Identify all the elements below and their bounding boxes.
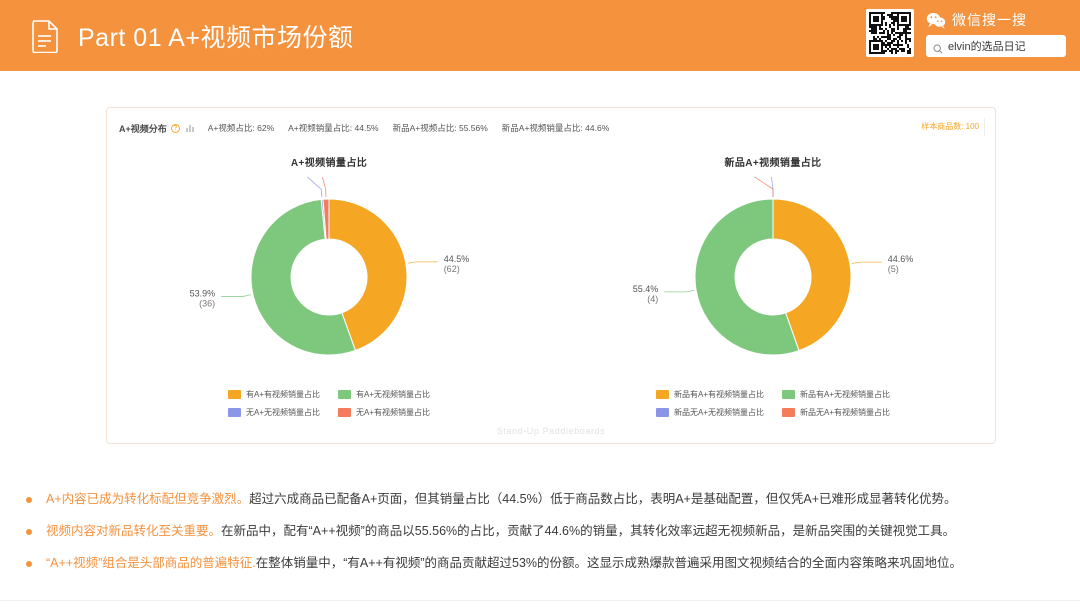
legend-item[interactable]: 有A+无视频销量占比 (338, 389, 430, 400)
chart-right-legend: 新品有A+有视频销量占比新品有A+无视频销量占比新品无A+无视频销量占比新品无A… (656, 389, 890, 418)
donut-leader-line (408, 262, 438, 263)
chart-left: A+视频销量占比 44.5%(62)53.9%(36)0.37%(1)1.22%… (107, 140, 551, 430)
chart-watermark: Stand-Up Paddleboards (107, 426, 995, 436)
chart-left-title: A+视频销量占比 (107, 154, 551, 169)
metric-a-plus-video-share: A+视频占比: 62% (208, 122, 274, 134)
donut-leader-line (727, 177, 773, 197)
document-icon (30, 19, 60, 53)
insight-text-1: A+内容已成为转化标配但竞争激烈。超过六成商品已配备A+页面，但其销量占比（44… (46, 491, 957, 508)
wechat-search-block: 微信搜一搜 elvin的选品日记 (926, 8, 1066, 57)
metric-new-a-plus-video-sales-share: 新品A+视频销量占比: 44.6% (502, 122, 609, 134)
donut-label-count: (36) (199, 298, 215, 308)
footer-divider (0, 600, 1080, 601)
legend-label: 有A+有视频销量占比 (246, 389, 320, 400)
metric-a-plus-video-sales-share: A+视频销量占比: 44.5% (288, 122, 378, 134)
chart-card-header: A+视频分布 ? A+视频占比: 62% A+视频销量占比: 44.5% 新品A… (107, 116, 995, 140)
bar-chart-icon[interactable] (186, 124, 194, 132)
chart-right-donut-wrap: 44.6%(5)55.4%(4)0%(0)0%(0) (551, 169, 995, 369)
legend-item[interactable]: 新品有A+无视频销量占比 (782, 389, 890, 400)
legend-label: 新品无A+无视频销量占比 (674, 407, 764, 418)
legend-swatch (228, 390, 241, 399)
insight-text-2: 视频内容对新品转化至关重要。在新品中，配有“A++视频”的商品以55.56%的占… (46, 523, 955, 540)
wechat-icon (926, 12, 946, 29)
donut-leader-line (221, 295, 251, 297)
legend-label: 无A+有视频销量占比 (356, 407, 430, 418)
donut-leader-line (852, 262, 882, 263)
legend-item[interactable]: 新品无A+有视频销量占比 (782, 407, 890, 418)
donut-label-percent: 55.4% (633, 284, 659, 294)
legend-label: 新品有A+有视频销量占比 (674, 389, 764, 400)
donut-label-percent: 44.6% (888, 254, 914, 264)
list-item: “A++视频”组合是头部商品的普遍特征.在整体销量中，“有A++有视频”的商品贡… (26, 555, 1054, 572)
legend-label: 新品有A+无视频销量占比 (800, 389, 890, 400)
page-header: Part 01 A+视频市场份额 (0, 0, 1080, 71)
legend-swatch (338, 408, 351, 417)
metric-new-a-plus-video-share: 新品A+视频占比: 55.56% (393, 122, 488, 134)
insight-text-3: “A++视频”组合是头部商品的普遍特征.在整体销量中，“有A++有视频”的商品贡… (46, 555, 962, 572)
legend-item[interactable]: 新品无A+无视频销量占比 (656, 407, 764, 418)
charts-row: A+视频销量占比 44.5%(62)53.9%(36)0.37%(1)1.22%… (107, 140, 995, 430)
donut-chart-right[interactable]: 44.6%(5)55.4%(4)0%(0)0%(0) (573, 177, 973, 377)
insight-body-2: 在新品中，配有“A++视频”的商品以55.56%的占比，贡献了44.6%的销量，… (221, 524, 955, 538)
donut-label-percent: 44.5% (444, 254, 470, 264)
donut-label-count: (5) (888, 264, 899, 274)
legend-label: 有A+无视频销量占比 (356, 389, 430, 400)
legend-swatch (338, 390, 351, 399)
bullet-dot-icon (26, 529, 32, 535)
legend-swatch (656, 390, 669, 399)
donut-leader-line (664, 291, 694, 292)
legend-item[interactable]: 新品有A+有视频销量占比 (656, 389, 764, 400)
slide-page: Part 01 A+视频市场份额 (0, 0, 1080, 609)
slide-body: A+视频分布 ? A+视频占比: 62% A+视频销量占比: 44.5% 新品A… (0, 71, 1080, 609)
legend-swatch (782, 408, 795, 417)
qr-code[interactable] (866, 9, 914, 57)
header-left-group: Part 01 A+视频市场份额 (30, 18, 353, 54)
chart-left-legend: 有A+有视频销量占比有A+无视频销量占比无A+无视频销量占比无A+有视频销量占比 (228, 389, 430, 418)
search-input[interactable]: elvin的选品日记 (926, 35, 1066, 57)
legend-label: 无A+无视频销量占比 (246, 407, 320, 418)
insight-body-3: 在整体销量中，“有A++有视频”的商品贡献超过53%的份额。这显示成熟爆款普遍采… (256, 556, 962, 570)
chart-card-title: A+视频分布 (119, 122, 167, 135)
header-right-group: 微信搜一搜 elvin的选品日记 (866, 8, 1066, 57)
legend-swatch (656, 408, 669, 417)
wechat-brand-row: 微信搜一搜 (926, 10, 1066, 30)
insights-list: A+内容已成为转化标配但竞争激烈。超过六成商品已配备A+页面，但其销量占比（44… (0, 491, 1080, 587)
legend-label: 新品无A+有视频销量占比 (800, 407, 890, 418)
donut-label-count: (62) (444, 264, 460, 274)
bullet-dot-icon (26, 561, 32, 567)
legend-item[interactable]: 有A+有视频销量占比 (228, 389, 320, 400)
list-item: 视频内容对新品转化至关重要。在新品中，配有“A++视频”的商品以55.56%的占… (26, 523, 1054, 540)
chart-right-title: 新品A+视频销量占比 (551, 154, 995, 169)
header-divider (984, 118, 985, 136)
donut-label-percent: 53.9% (190, 288, 216, 298)
insight-highlight-2: 视频内容对新品转化至关重要。 (46, 524, 221, 538)
list-item: A+内容已成为转化标配但竞争激烈。超过六成商品已配备A+页面，但其销量占比（44… (26, 491, 1054, 508)
donut-leader-line (283, 177, 322, 197)
sample-count-label: 样本商品数: 100 (921, 121, 979, 132)
legend-swatch (228, 408, 241, 417)
donut-label-count: (4) (647, 294, 658, 304)
insight-highlight-3: “A++视频”组合是头部商品的普遍特征. (46, 556, 256, 570)
insight-highlight-1: A+内容已成为转化标配但竞争激烈。 (46, 492, 249, 506)
page-title: Part 01 A+视频市场份额 (78, 18, 353, 54)
wechat-label: 微信搜一搜 (952, 10, 1027, 30)
search-icon (933, 41, 943, 51)
bullet-dot-icon (26, 497, 32, 503)
legend-item[interactable]: 无A+有视频销量占比 (338, 407, 430, 418)
search-input-value: elvin的选品日记 (948, 38, 1026, 54)
chart-left-donut-wrap: 44.5%(62)53.9%(36)0.37%(1)1.22%(1) (107, 169, 551, 369)
question-mark-icon[interactable]: ? (171, 124, 180, 133)
legend-item[interactable]: 无A+无视频销量占比 (228, 407, 320, 418)
chart-right: 新品A+视频销量占比 44.6%(5)55.4%(4)0%(0)0%(0) 新品… (551, 140, 995, 430)
chart-card: A+视频分布 ? A+视频占比: 62% A+视频销量占比: 44.5% 新品A… (106, 107, 996, 444)
insight-body-1: 超过六成商品已配备A+页面，但其销量占比（44.5%）低于商品数占比，表明A+是… (249, 492, 956, 506)
legend-swatch (782, 390, 795, 399)
donut-chart-left[interactable]: 44.5%(62)53.9%(36)0.37%(1)1.22%(1) (129, 177, 529, 377)
